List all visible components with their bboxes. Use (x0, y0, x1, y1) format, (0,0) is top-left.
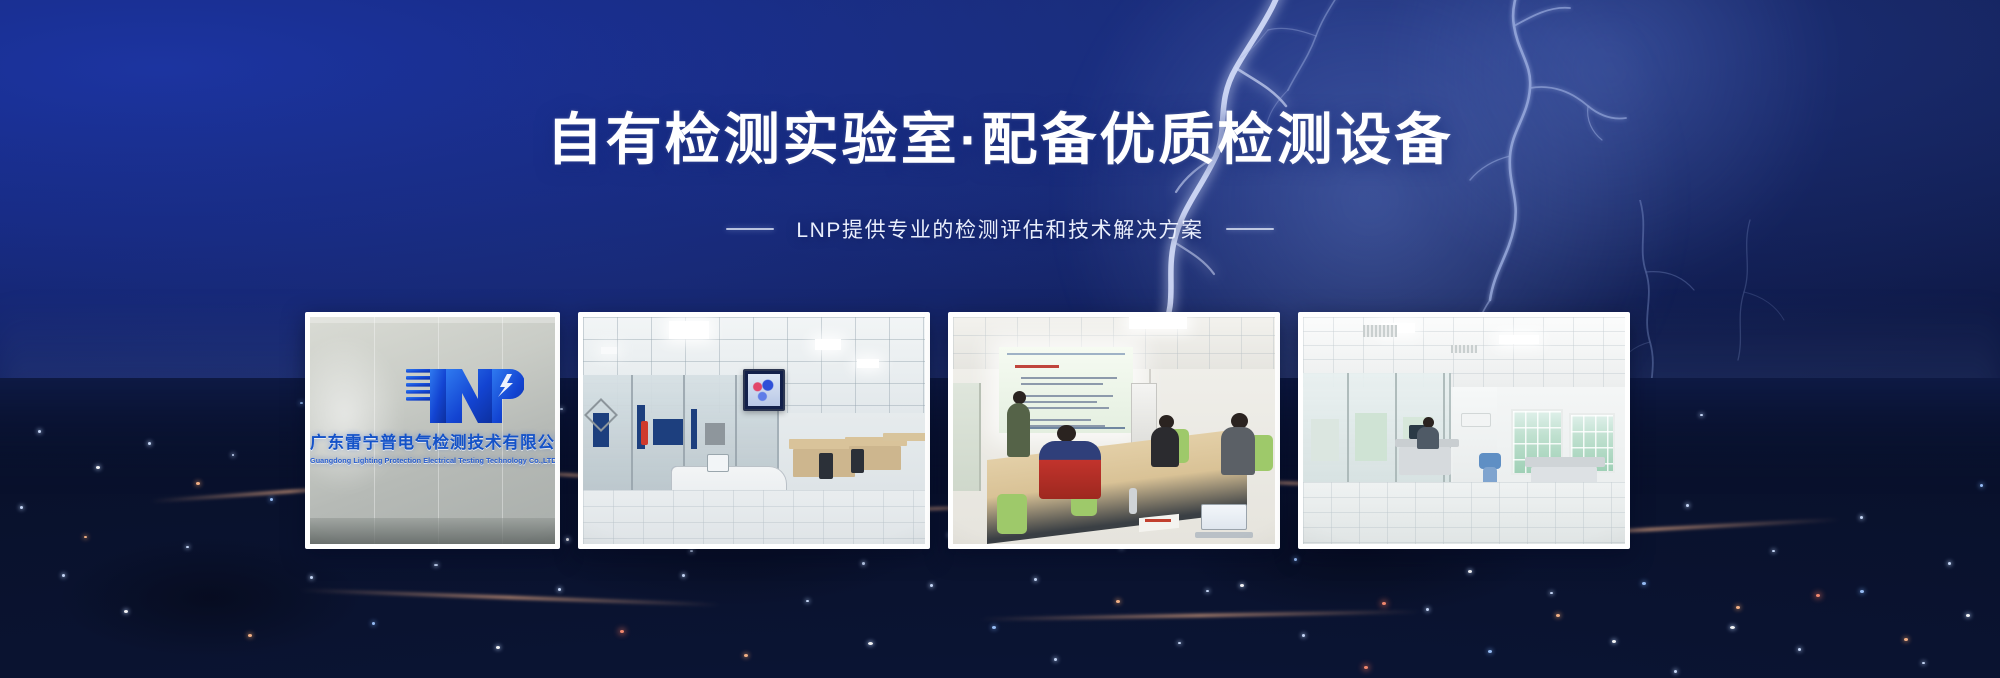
photo-frame-company-sign[interactable]: 广东雷宁普电气检测技术有限公司 Guangdong Lighting Prote… (305, 312, 560, 549)
hero-subtitle: LNP提供专业的检测评估和技术解决方案 (796, 214, 1203, 244)
person-seated-mid (1151, 427, 1179, 467)
company-name-cn: 广东雷宁普电气检测技术有限公司 (310, 429, 555, 453)
photo-meeting-room (953, 317, 1275, 544)
rule-left-icon (726, 228, 774, 230)
company-sign-text: 广东雷宁普电气检测技术有限公司 Guangdong Lighting Prote… (310, 429, 555, 465)
person-red-jacket (1039, 441, 1101, 499)
photo-office-area (1303, 317, 1625, 544)
photo-company-sign: 广东雷宁普电气检测技术有限公司 Guangdong Lighting Prote… (310, 317, 555, 544)
photo-frame-office-area[interactable] (1298, 312, 1630, 549)
wall-monitor (743, 369, 785, 411)
laptop (1195, 504, 1253, 538)
hero-headline: 自有检测实验室·配备优质检测设备 (0, 109, 2000, 172)
person-presenter (1007, 403, 1030, 457)
rule-right-icon (1226, 228, 1274, 230)
company-name-en: Guangdong Lighting Protection Electrical… (310, 456, 555, 465)
photo-gallery-row: 广东雷宁普电气检测技术有限公司 Guangdong Lighting Prote… (305, 312, 1695, 549)
photo-test-laboratory (583, 317, 925, 544)
hero-banner: 自有检测实验室·配备优质检测设备 LNP提供专业的检测评估和技术解决方案 (0, 0, 2000, 678)
photo-frame-test-laboratory[interactable] (578, 312, 930, 549)
photo-frame-meeting-room[interactable] (948, 312, 1280, 549)
person-seated-right (1221, 427, 1255, 475)
lnp-logo-icon (406, 363, 524, 429)
hero-subtitle-row: LNP提供专业的检测评估和技术解决方案 (0, 214, 2000, 244)
